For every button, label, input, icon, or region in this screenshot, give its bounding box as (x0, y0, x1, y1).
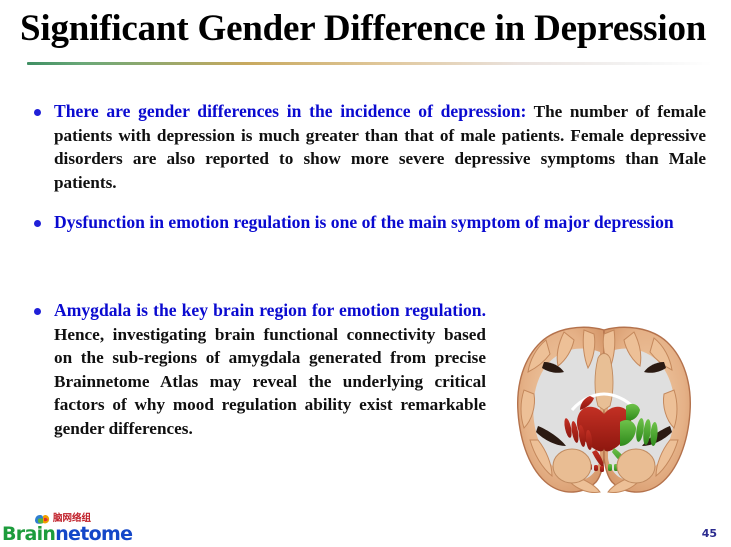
bullet-dot-icon (34, 109, 41, 116)
page-title: Significant Gender Difference in Depress… (20, 4, 720, 54)
brainnetome-logo: 脑网络组 Brainnetome (2, 512, 102, 547)
logo-word-part-1: Brain (2, 523, 55, 545)
logo-wordmark: Brainnetome (2, 524, 132, 545)
bullet-3-lead: Amygdala is the key brain region for emo… (54, 300, 486, 320)
bullet-item-1: There are gender differences in the inci… (34, 100, 706, 194)
bullet-2-lead: Dysfunction in emotion regulation is one… (54, 212, 674, 232)
bullet-item-3: Amygdala is the key brain region for emo… (34, 299, 486, 440)
brain-midline (595, 354, 613, 411)
bullet-item-2: Dysfunction in emotion regulation is one… (34, 211, 706, 235)
brain-slice-image (508, 318, 700, 506)
page-number: 45 (702, 527, 717, 540)
title-divider (27, 62, 712, 65)
bullet-3-body: Hence, investigating brain functional co… (54, 325, 486, 438)
bullet-1-lead: There are gender differences in the inci… (54, 101, 526, 121)
bullet-1-text: There are gender differences in the inci… (54, 100, 706, 194)
bullet-2-text: Dysfunction in emotion regulation is one… (54, 211, 706, 235)
bullet-dot-icon (34, 220, 41, 227)
logo-word-part-2: netome (55, 523, 132, 545)
bullet-3-text: Amygdala is the key brain region for emo… (54, 299, 486, 440)
bullet-dot-icon (34, 308, 41, 315)
